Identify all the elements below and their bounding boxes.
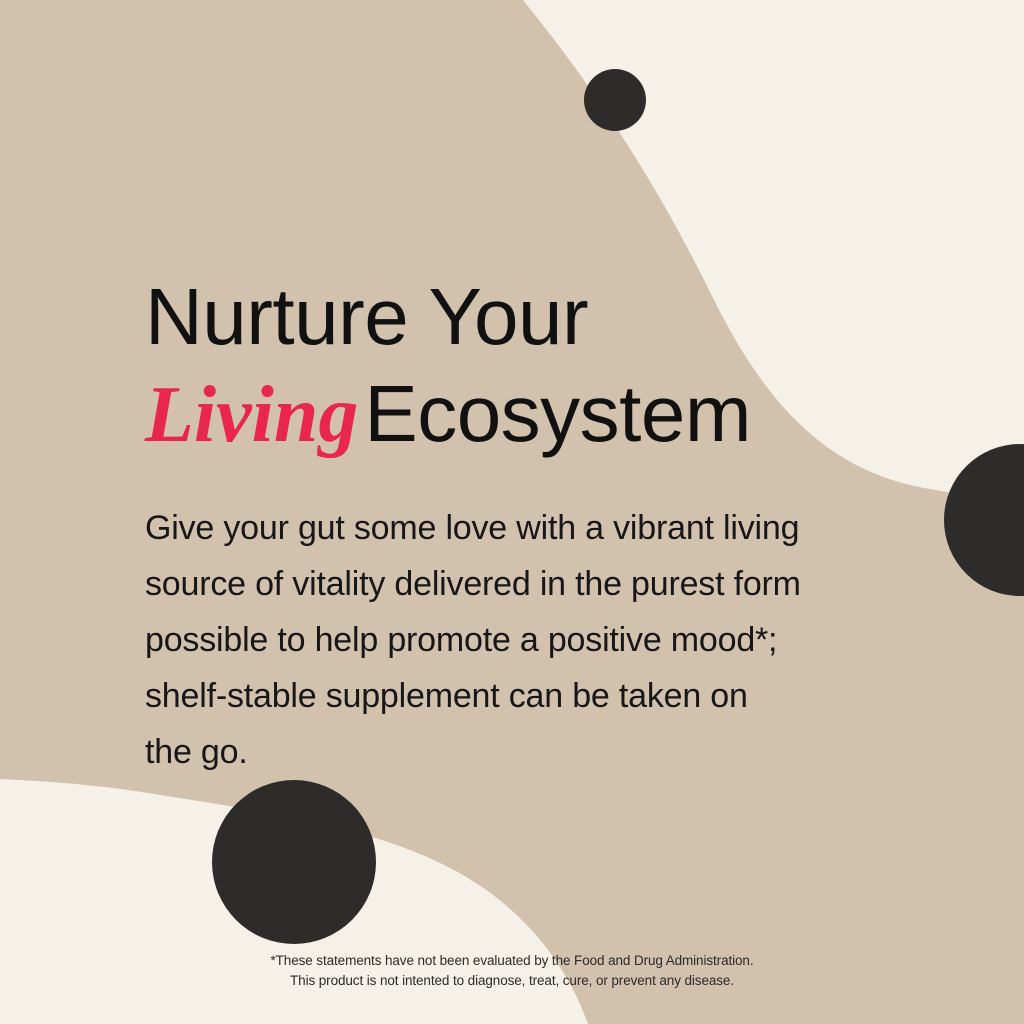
headline-accent-word: Living bbox=[145, 371, 364, 459]
poster-canvas: Nurture Your LivingEcosystem Give your g… bbox=[0, 0, 1024, 1024]
disclaimer-line-2: This product is not intented to diagnose… bbox=[0, 971, 1024, 991]
legal-disclaimer: *These statements have not been evaluate… bbox=[0, 951, 1024, 991]
content-layer: Nurture Your LivingEcosystem Give your g… bbox=[0, 0, 1024, 1024]
body-line: source of vitality delivered in the pure… bbox=[145, 556, 905, 612]
headline: Nurture Your LivingEcosystem bbox=[145, 268, 965, 464]
headline-line-1: Nurture Your bbox=[145, 268, 965, 365]
body-line: shelf-stable supplement can be taken on bbox=[145, 668, 905, 724]
headline-line-2-rest: Ecosystem bbox=[364, 369, 751, 458]
body-line: the go. bbox=[145, 724, 905, 780]
headline-line-2: LivingEcosystem bbox=[145, 365, 965, 464]
body-line: possible to help promote a positive mood… bbox=[145, 612, 905, 668]
disclaimer-line-1: *These statements have not been evaluate… bbox=[0, 951, 1024, 971]
body-paragraph: Give your gut some love with a vibrant l… bbox=[145, 500, 905, 780]
body-line: Give your gut some love with a vibrant l… bbox=[145, 500, 905, 556]
